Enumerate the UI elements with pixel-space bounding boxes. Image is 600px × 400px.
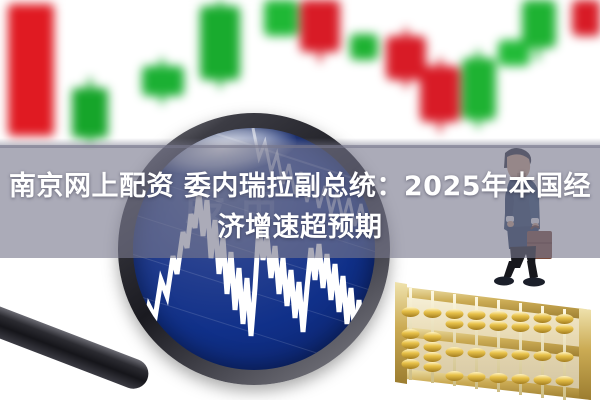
article-thumbnail-image: 股市 南京网上配资 委内瑞拉副总统：2025年本国经 济增速超预 bbox=[0, 0, 600, 400]
headline-line-2: 济增速超预期 bbox=[0, 207, 600, 248]
headline-line-1: 南京网上配资 委内瑞拉副总统：2025年本国经 bbox=[0, 166, 600, 207]
shoe-right bbox=[523, 278, 545, 287]
headline: 南京网上配资 委内瑞拉副总统：2025年本国经 济增速超预期 bbox=[0, 166, 600, 248]
magnifier-handle bbox=[0, 297, 153, 393]
shoe-left bbox=[494, 277, 514, 286]
